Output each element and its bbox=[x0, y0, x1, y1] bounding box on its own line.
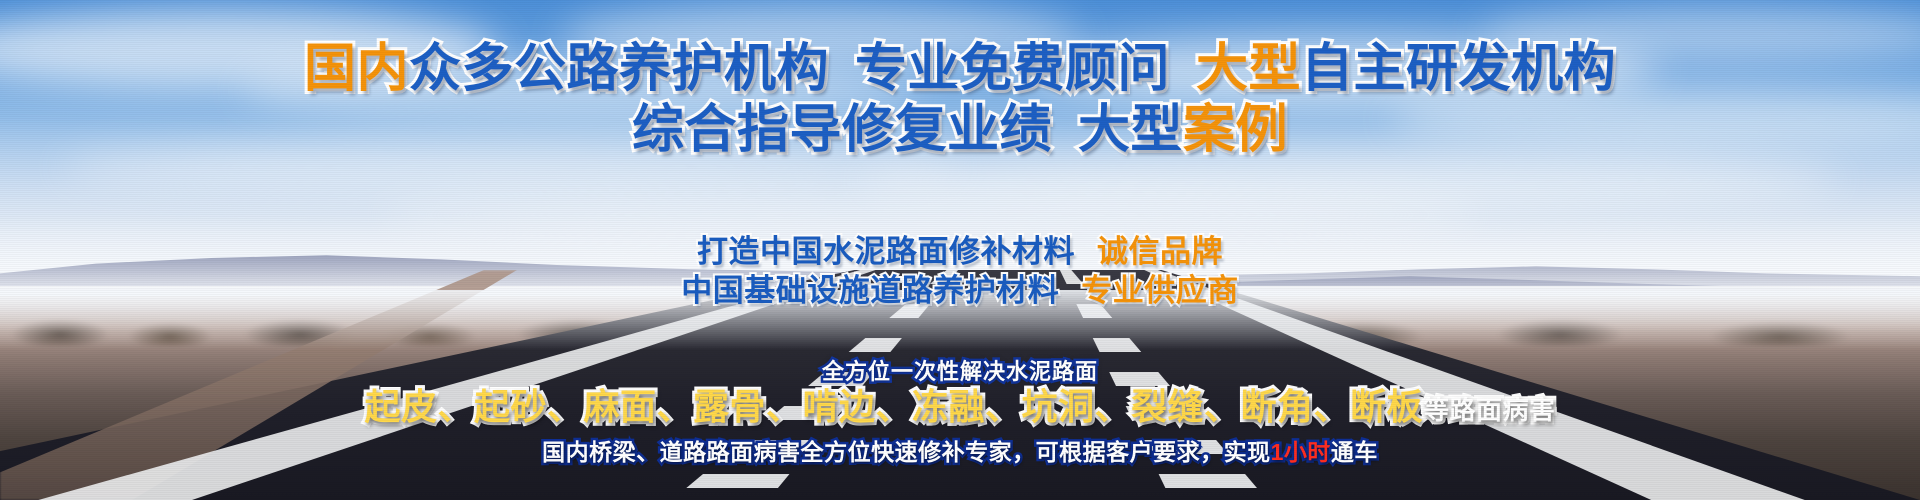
headline-l1-seg5: 大型 bbox=[1196, 40, 1301, 98]
headline-l2-seg3: 案例 bbox=[1183, 101, 1288, 159]
subhead-line-1: 打造中国水泥路面修补材料诚信品牌 bbox=[0, 233, 1920, 271]
defects-suffix: 等路面病害 bbox=[1423, 395, 1556, 425]
promo-banner: 国内众多公路养护机构专业免费顾问大型自主研发机构 综合指导修复业绩大型案例 打造… bbox=[0, 0, 1920, 500]
headline-line-1: 国内众多公路养护机构专业免费顾问大型自主研发机构 bbox=[0, 40, 1920, 98]
headline-l2-seg2: 大型 bbox=[1078, 101, 1183, 159]
headline-l2-seg1: 综合指导修复业绩 bbox=[632, 101, 1052, 159]
headline-l1-seg1: 国内 bbox=[304, 40, 409, 98]
subhead-l1-main: 打造中国水泥路面修补材料 bbox=[697, 234, 1075, 269]
subhead-line-2: 中国基础设施道路养护材料专业供应商 bbox=[0, 272, 1920, 310]
headline-line-2: 综合指导修复业绩大型案例 bbox=[0, 101, 1920, 159]
tagline-highlight: 1小时 bbox=[1271, 439, 1331, 465]
headline-l1-seg3: 专业 bbox=[855, 40, 960, 98]
headline-l1-seg4: 免费顾问 bbox=[960, 40, 1170, 98]
subhead-l2-accent: 专业供应商 bbox=[1081, 273, 1239, 308]
tagline-part-a: 国内桥梁、道路路面病害全方位快速修补专家，可根据客户要求，实现 bbox=[542, 439, 1271, 465]
headline-l1-seg2: 众多公路养护机构 bbox=[409, 40, 829, 98]
defects-text: 起皮、起砂、麻面、露骨、啃边、冻融、坑洞、裂缝、断角、断板 bbox=[364, 386, 1423, 427]
tagline-part-b: 通车 bbox=[1331, 439, 1378, 465]
bottom-lead-text: 全方位一次性解决水泥路面 bbox=[0, 358, 1920, 386]
bottom-tagline: 国内桥梁、道路路面病害全方位快速修补专家，可根据客户要求，实现1小时通车 bbox=[0, 437, 1920, 467]
subhead-l1-accent: 诚信品牌 bbox=[1097, 234, 1223, 269]
headline-l1-seg6: 自主研发机构 bbox=[1301, 40, 1616, 98]
bottom-defects-list: 起皮、起砂、麻面、露骨、啃边、冻融、坑洞、裂缝、断角、断板等路面病害 bbox=[0, 385, 1920, 432]
subhead-l2-main: 中国基础设施道路养护材料 bbox=[681, 273, 1059, 308]
